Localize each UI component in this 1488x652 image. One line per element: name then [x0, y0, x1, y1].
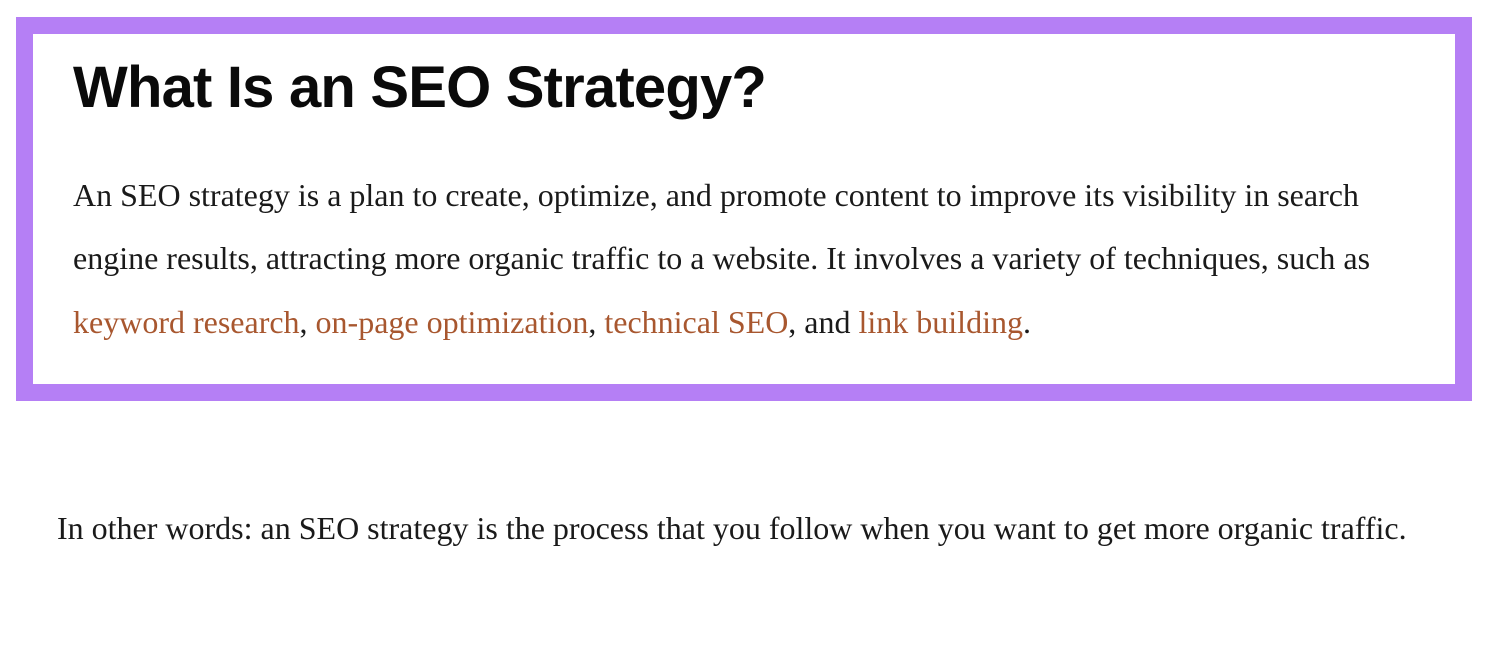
callout-heading: What Is an SEO Strategy? — [73, 56, 1415, 121]
link-keyword-research[interactable]: keyword research — [73, 304, 300, 340]
callout-body-paragraph: An SEO strategy is a plan to create, opt… — [73, 121, 1415, 354]
callout-body-text-lead: An SEO strategy is a plan to create, opt… — [73, 177, 1370, 276]
link-link-building[interactable]: link building — [859, 304, 1023, 340]
page-root: What Is an SEO Strategy? An SEO strategy… — [0, 0, 1488, 652]
outro-paragraph: In other words: an SEO strategy is the p… — [57, 497, 1447, 560]
callout-body-separator-3: , and — [788, 304, 858, 340]
link-technical-seo[interactable]: technical SEO — [604, 304, 788, 340]
link-on-page-optimization[interactable]: on-page optimization — [316, 304, 589, 340]
callout-body-separator-2: , — [588, 304, 604, 340]
callout-body-terminal-period: . — [1023, 304, 1031, 340]
seo-strategy-callout-box: What Is an SEO Strategy? An SEO strategy… — [16, 17, 1472, 401]
callout-body-separator-1: , — [300, 304, 316, 340]
